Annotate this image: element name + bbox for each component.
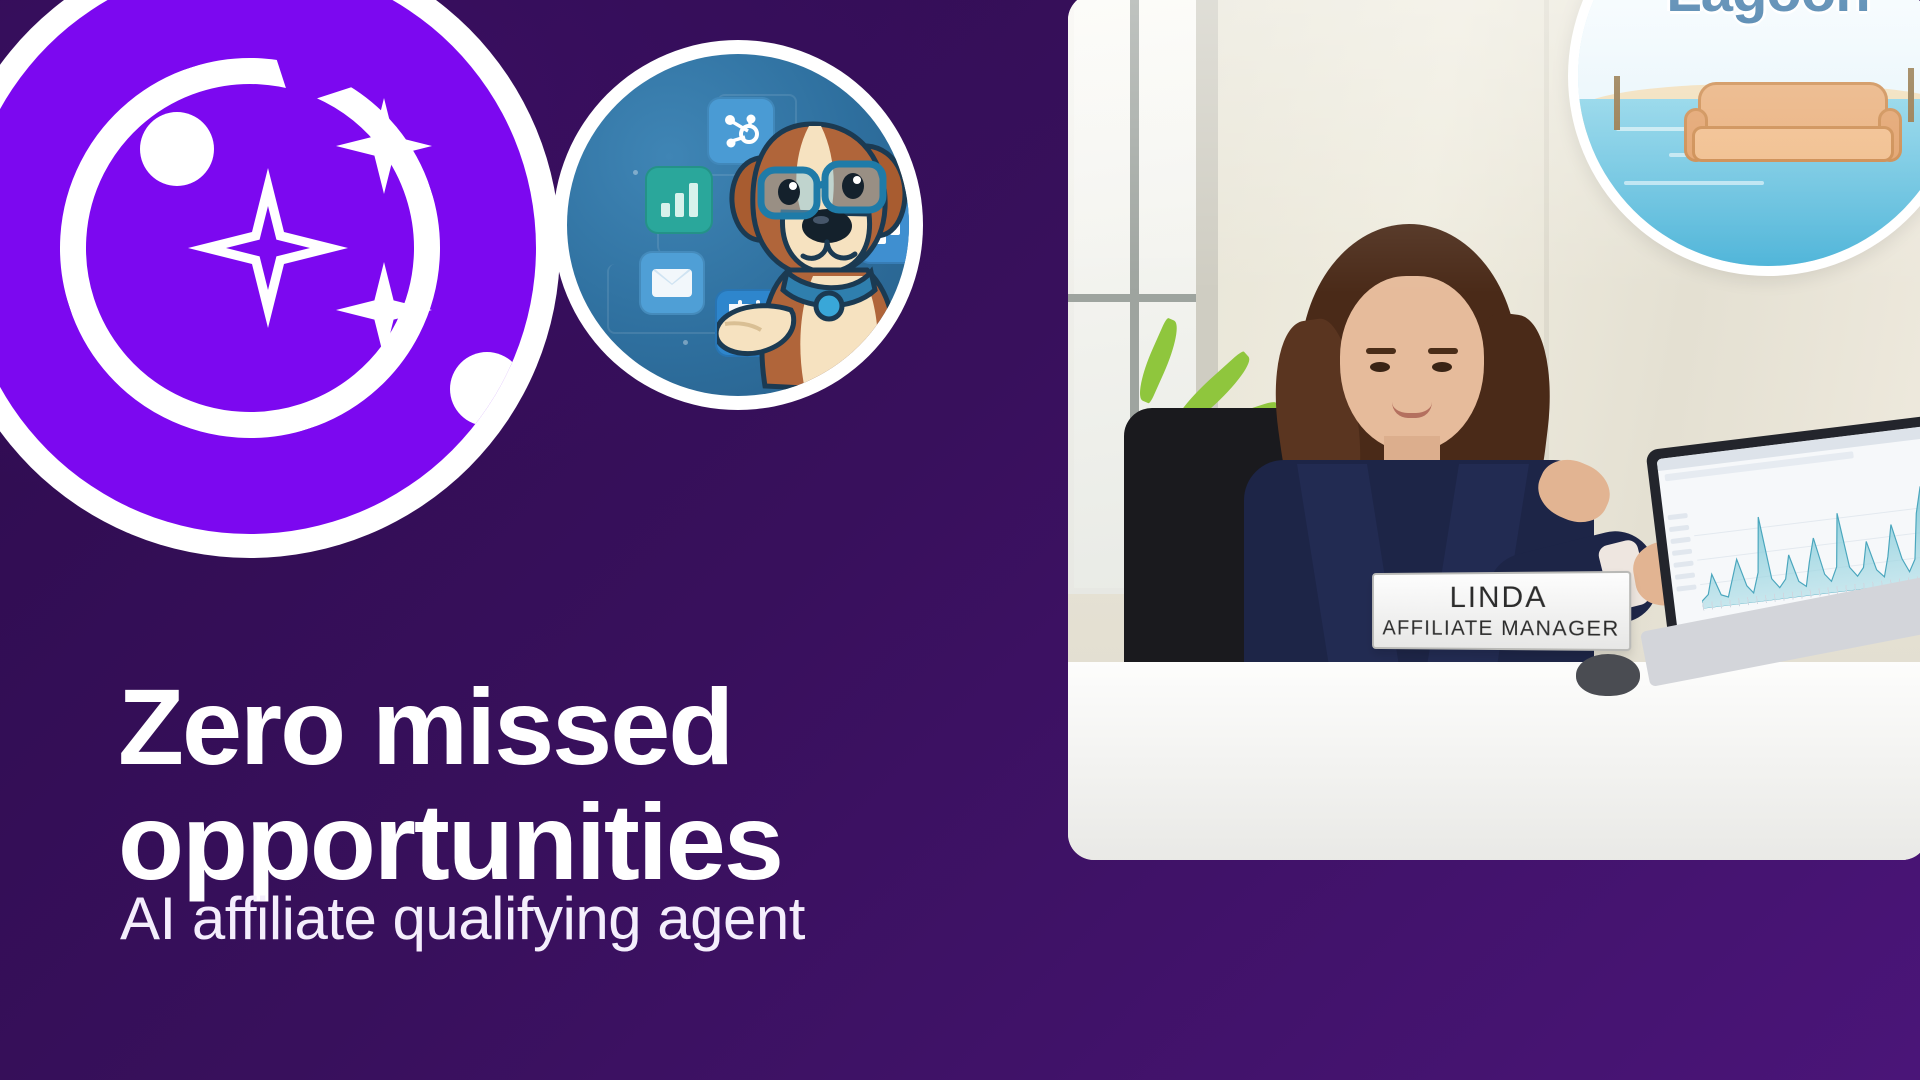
desk-nameplate: LINDA AFFILIATE MANAGER [1372, 571, 1631, 651]
orbit-knob-bottom-icon [450, 352, 524, 426]
bar-chart-icon [645, 166, 713, 234]
headline-line-1: Zero missed [118, 666, 732, 787]
page-title: Zero missed opportunities [118, 670, 1078, 899]
orbit-knob-top-icon [140, 112, 214, 186]
desk-surface [1068, 662, 1920, 860]
ai-sparkle-orbit-icon [0, 0, 536, 534]
ai-agent-dog-avatar [553, 40, 923, 410]
dog-illustration [717, 100, 909, 396]
circuit-dot [633, 170, 638, 175]
computer-mouse[interactable] [1576, 654, 1640, 696]
face [1340, 276, 1484, 452]
bar-chart-bars [661, 183, 698, 217]
page-subtitle: AI affiliate qualifying agent [120, 884, 1120, 953]
laptop[interactable] [1645, 415, 1920, 641]
nameplate-name: LINDA [1450, 581, 1548, 615]
office-photo: Loveseat Lagoon [1068, 0, 1920, 860]
promo-banner: Zero missed opportunities AI affiliate q… [0, 0, 1920, 1080]
envelope-glyph [652, 269, 692, 297]
window-mullion [1068, 294, 1204, 302]
headline-line-2: opportunities [118, 785, 1078, 899]
ai-logo-badge [0, 0, 560, 558]
circuit-dot [683, 340, 688, 345]
nameplate-role: AFFILIATE MANAGER [1382, 617, 1619, 642]
left-brand-panel: Zero missed opportunities AI affiliate q… [0, 0, 1100, 1080]
avatar-scene [567, 54, 909, 396]
email-icon [639, 251, 705, 315]
window-light-glow [1068, 0, 1920, 294]
